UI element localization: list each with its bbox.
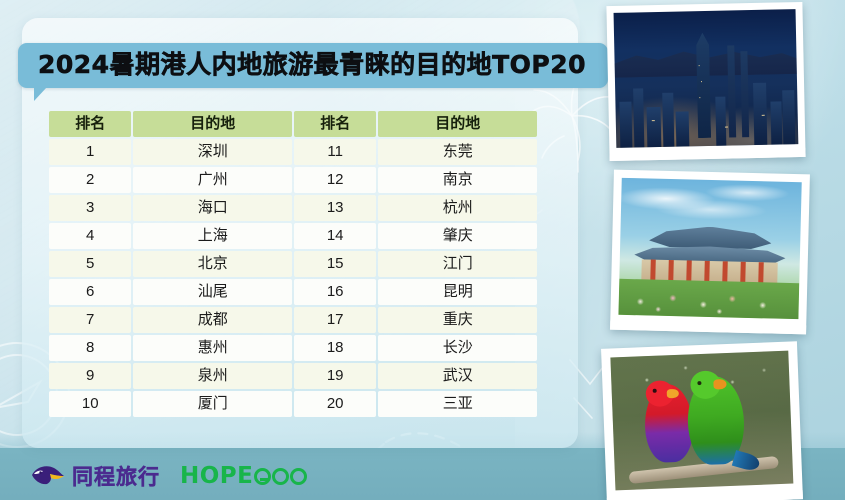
- rank-cell-left: 5: [49, 251, 131, 277]
- rank-cell-right: 20: [294, 391, 376, 417]
- footer-logos: 同程旅行 HOPE: [28, 461, 307, 491]
- rank-cell-right: 15: [294, 251, 376, 277]
- dest-cell-right: 武汉: [378, 363, 537, 389]
- rank-cell-left: 10: [49, 391, 131, 417]
- dest-cell-left: 泉州: [133, 363, 292, 389]
- table-row: 6 汕尾 16 昆明: [49, 279, 537, 305]
- destination-ranking-table: 排名 目的地 排名 目的地 1 深圳 11 东莞 2 广州 12 南京 3 海口: [47, 109, 539, 419]
- rank-cell-right: 14: [294, 223, 376, 249]
- ring-o-icon-2: [290, 468, 307, 485]
- dest-cell-right: 南京: [378, 167, 537, 193]
- dest-cell-left: 广州: [133, 167, 292, 193]
- dest-cell-right: 三亚: [378, 391, 537, 417]
- dest-cell-right: 重庆: [378, 307, 537, 333]
- rank-cell-right: 18: [294, 335, 376, 361]
- ring-g-icon: [254, 468, 271, 485]
- dest-cell-left: 海口: [133, 195, 292, 221]
- header-rank-right: 排名: [294, 111, 376, 137]
- rank-cell-right: 16: [294, 279, 376, 305]
- rank-cell-left: 4: [49, 223, 131, 249]
- rank-cell-left: 8: [49, 335, 131, 361]
- rank-cell-left: 9: [49, 363, 131, 389]
- rank-cell-left: 6: [49, 279, 131, 305]
- table-header-row: 排名 目的地 排名 目的地: [49, 111, 537, 137]
- dest-cell-right: 肇庆: [378, 223, 537, 249]
- table-row: 3 海口 13 杭州: [49, 195, 537, 221]
- table-row: 9 泉州 19 武汉: [49, 363, 537, 389]
- night-skyline-photo: [606, 2, 805, 161]
- dest-cell-right: 昆明: [378, 279, 537, 305]
- dest-cell-right: 东莞: [378, 139, 537, 165]
- dest-cell-right: 杭州: [378, 195, 537, 221]
- rank-cell-right: 11: [294, 139, 376, 165]
- rank-cell-left: 1: [49, 139, 131, 165]
- header-dest-right: 目的地: [378, 111, 537, 137]
- swallow-bird-icon: [28, 462, 66, 491]
- table-row: 1 深圳 11 东莞: [49, 139, 537, 165]
- dest-cell-left: 上海: [133, 223, 292, 249]
- page-title: 2024暑期港人内地旅游最青睐的目的地TOP20: [38, 52, 586, 78]
- night-skyline-image: [614, 9, 799, 148]
- rank-cell-right: 13: [294, 195, 376, 221]
- table-row: 2 广州 12 南京: [49, 167, 537, 193]
- tongcheng-label: 同程旅行: [72, 461, 160, 491]
- table-row: 8 惠州 18 长沙: [49, 335, 537, 361]
- header-dest-left: 目的地: [133, 111, 292, 137]
- rank-cell-left: 2: [49, 167, 131, 193]
- memorial-hall-photo: [610, 170, 810, 335]
- ring-o-icon-1: [272, 468, 289, 485]
- dest-cell-left: 汕尾: [133, 279, 292, 305]
- dest-cell-left: 深圳: [133, 139, 292, 165]
- dest-cell-left: 北京: [133, 251, 292, 277]
- hopegoo-suffix-rings: [254, 468, 307, 485]
- rank-cell-right: 19: [294, 363, 376, 389]
- parrots-photo: [601, 341, 803, 500]
- table-row: 4 上海 14 肇庆: [49, 223, 537, 249]
- dest-cell-right: 长沙: [378, 335, 537, 361]
- hopegoo-prefix: HOPE: [180, 463, 253, 489]
- dest-cell-right: 江门: [378, 251, 537, 277]
- header-rank-left: 排名: [49, 111, 131, 137]
- parrots-image: [610, 351, 793, 491]
- title-bubble: 2024暑期港人内地旅游最青睐的目的地TOP20: [18, 43, 608, 88]
- rank-cell-right: 17: [294, 307, 376, 333]
- dest-cell-left: 惠州: [133, 335, 292, 361]
- table-row: 7 成都 17 重庆: [49, 307, 537, 333]
- memorial-hall-image: [618, 178, 801, 319]
- table-row: 10 厦门 20 三亚: [49, 391, 537, 417]
- dest-cell-left: 成都: [133, 307, 292, 333]
- infographic-stage: 2024暑期港人内地旅游最青睐的目的地TOP20 排名 目的地 排名 目的地 1…: [0, 0, 845, 500]
- rank-cell-left: 7: [49, 307, 131, 333]
- table-body: 1 深圳 11 东莞 2 广州 12 南京 3 海口 13 杭州 4 上海 14: [49, 139, 537, 417]
- rank-cell-left: 3: [49, 195, 131, 221]
- hopegoo-logo[interactable]: HOPE: [180, 463, 307, 489]
- rank-cell-right: 12: [294, 167, 376, 193]
- dest-cell-left: 厦门: [133, 391, 292, 417]
- tongcheng-logo[interactable]: 同程旅行: [28, 461, 160, 491]
- title-bubble-wrap: 2024暑期港人内地旅游最青睐的目的地TOP20: [18, 43, 608, 88]
- table-row: 5 北京 15 江门: [49, 251, 537, 277]
